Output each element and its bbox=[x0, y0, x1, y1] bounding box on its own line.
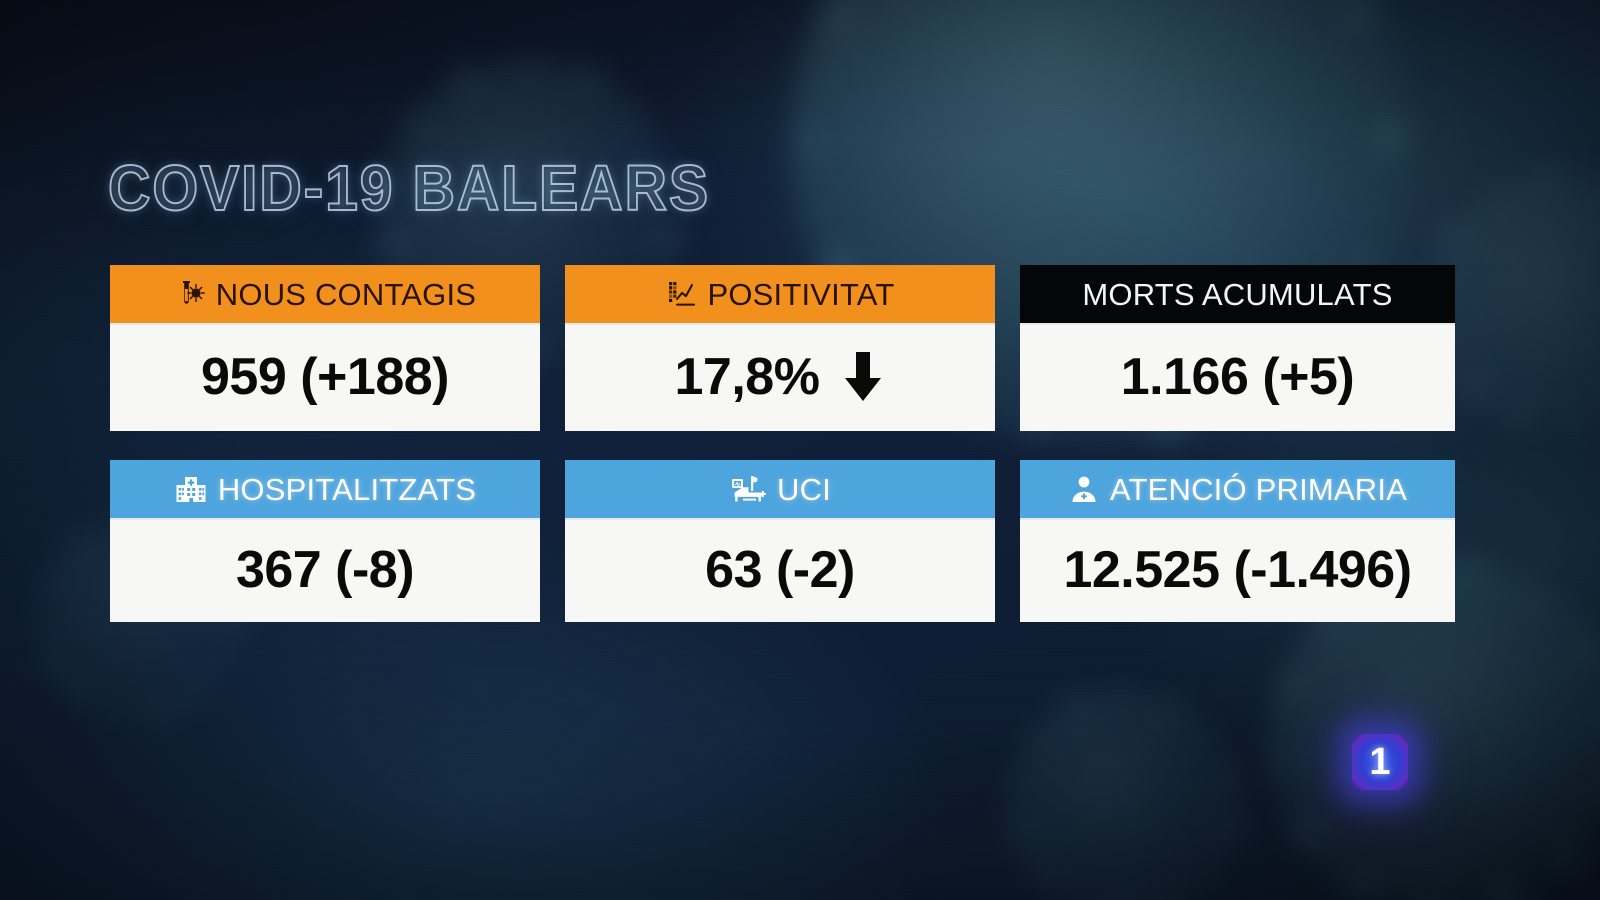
la-1-channel-logo: 1 bbox=[1352, 734, 1408, 790]
broadcast-graphic-screen: COVID-19 BALEARS bbox=[0, 0, 1600, 900]
doctor-person-icon bbox=[1068, 473, 1100, 505]
stat-card-value: 367 (-8) bbox=[236, 544, 414, 596]
stat-card-value: 959 (+188) bbox=[201, 351, 449, 403]
channel-logo-text: 1 bbox=[1369, 743, 1390, 781]
stat-card-header: MORTS ACUMULATS bbox=[1020, 265, 1455, 323]
stat-card-body: 959 (+188) bbox=[110, 323, 540, 431]
stat-card-label: MORTS ACUMULATS bbox=[1082, 279, 1392, 310]
stat-card-atencio-primaria: ATENCIÓ PRIMARIA 12.525 (-1.496) bbox=[1020, 460, 1455, 622]
stat-card-body: 12.525 (-1.496) bbox=[1020, 518, 1455, 622]
line-chart-icon bbox=[665, 278, 697, 310]
stat-card-value: 1.166 (+5) bbox=[1121, 351, 1355, 403]
test-tube-virus-icon bbox=[174, 278, 206, 310]
stat-card-header: UCI bbox=[565, 460, 995, 518]
stat-card-body: 63 (-2) bbox=[565, 518, 995, 622]
stat-card-positivitat: POSITIVITAT 17,8% bbox=[565, 265, 995, 431]
stat-card-label: NOUS CONTAGIS bbox=[216, 279, 476, 310]
trend-down-arrow-icon bbox=[841, 350, 885, 404]
stat-card-value: 63 (-2) bbox=[705, 544, 855, 596]
stat-card-nous-contagis: NOUS CONTAGIS 959 (+188) bbox=[110, 265, 540, 431]
page-title: COVID-19 BALEARS bbox=[108, 156, 710, 220]
stat-card-value: 17,8% bbox=[675, 351, 820, 403]
icu-bed-icon bbox=[729, 473, 767, 505]
stat-card-hospitalitzats: HOSPITALITZATS 367 (-8) bbox=[110, 460, 540, 622]
stat-card-label: ATENCIÓ PRIMARIA bbox=[1110, 474, 1407, 505]
stat-card-uci: UCI 63 (-2) bbox=[565, 460, 995, 622]
stat-card-label: HOSPITALITZATS bbox=[218, 474, 476, 505]
stat-card-body: 17,8% bbox=[565, 323, 995, 431]
stat-card-label: POSITIVITAT bbox=[707, 279, 894, 310]
stat-card-header: HOSPITALITZATS bbox=[110, 460, 540, 518]
stat-card-body: 367 (-8) bbox=[110, 518, 540, 622]
stat-card-morts-acumulats: MORTS ACUMULATS 1.166 (+5) bbox=[1020, 265, 1455, 431]
stat-card-label: UCI bbox=[777, 474, 831, 505]
stats-grid: NOUS CONTAGIS 959 (+188) bbox=[110, 265, 1455, 622]
stat-card-body: 1.166 (+5) bbox=[1020, 323, 1455, 431]
stat-card-header: POSITIVITAT bbox=[565, 265, 995, 323]
stat-card-value: 12.525 (-1.496) bbox=[1063, 544, 1411, 596]
hospital-building-icon bbox=[174, 473, 208, 505]
stat-card-header: ATENCIÓ PRIMARIA bbox=[1020, 460, 1455, 518]
stat-card-header: NOUS CONTAGIS bbox=[110, 265, 540, 323]
